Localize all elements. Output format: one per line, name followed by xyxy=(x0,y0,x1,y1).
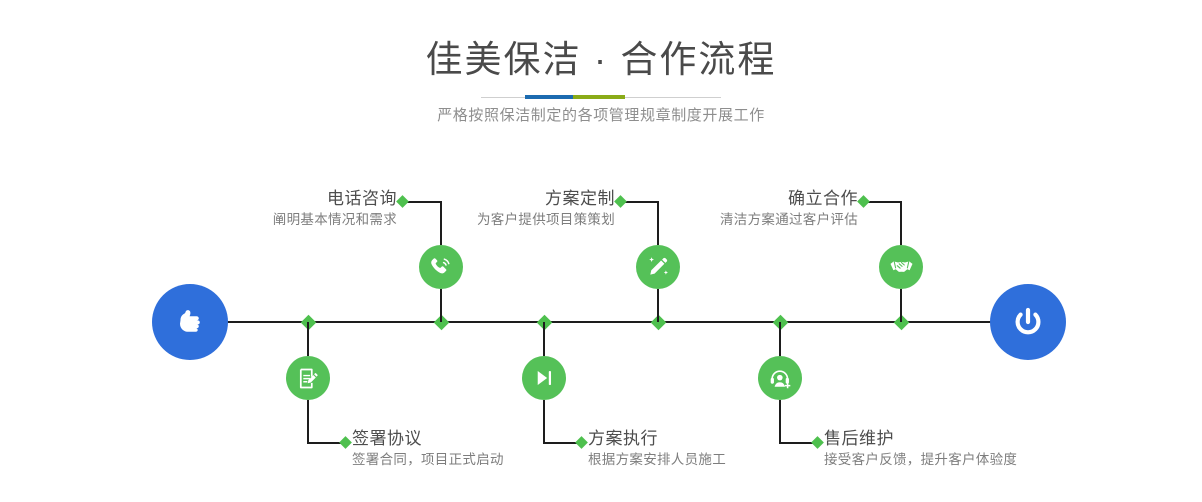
connector-vertical-3b xyxy=(657,289,659,322)
connector-vertical-5 xyxy=(900,202,902,245)
step-desc-3: 为客户提供项目策策划 xyxy=(440,210,615,230)
branch-marker-5 xyxy=(857,195,870,208)
pointing-hand-icon xyxy=(171,303,209,341)
step-title-6: 售后维护 xyxy=(824,428,1017,450)
step-desc-5: 清洁方案通过客户评估 xyxy=(684,210,858,230)
phone-call-icon xyxy=(419,245,463,289)
branch-marker-4 xyxy=(575,436,588,449)
step-label-5: 确立合作 清洁方案通过客户评估 xyxy=(684,188,858,230)
page-subtitle: 严格按照保洁制定的各项管理规章制度开展工作 xyxy=(0,104,1202,125)
step-label-2: 签署协议 签署合同，项目正式启动 xyxy=(352,428,504,470)
step-label-4: 方案执行 根据方案安排人员施工 xyxy=(588,428,726,470)
connector-horizontal-1 xyxy=(404,201,442,203)
connector-vertical-6 xyxy=(779,322,781,356)
connector-horizontal-3 xyxy=(622,201,659,203)
page-title: 佳美保洁 · 合作流程 xyxy=(0,36,1202,84)
divider-segment-blue xyxy=(525,95,573,99)
connector-vertical-1b xyxy=(440,289,442,322)
connector-vertical-4b xyxy=(543,400,545,443)
divider-segment-green xyxy=(573,95,625,99)
step-title-4: 方案执行 xyxy=(588,428,726,450)
branch-marker-6 xyxy=(811,436,824,449)
step-label-3: 方案定制 为客户提供项目策策划 xyxy=(440,188,615,230)
step-title-5: 确立合作 xyxy=(684,188,858,210)
step-label-1: 电话咨询 阐明基本情况和需求 xyxy=(222,188,397,230)
step-title-1: 电话咨询 xyxy=(222,188,397,210)
connector-vertical-4 xyxy=(543,322,545,356)
connector-vertical-6b xyxy=(779,400,781,443)
process-flow-infographic: 佳美保洁 · 合作流程 严格按照保洁制定的各项管理规章制度开展工作 xyxy=(0,0,1202,502)
step-desc-2: 签署合同，项目正式启动 xyxy=(352,450,504,470)
branch-marker-3 xyxy=(614,195,627,208)
play-next-icon xyxy=(522,356,566,400)
title-divider xyxy=(481,95,721,101)
connector-vertical-5b xyxy=(900,289,902,322)
step-desc-4: 根据方案安排人员施工 xyxy=(588,450,726,470)
branch-marker-2 xyxy=(339,436,352,449)
branch-marker-1 xyxy=(396,195,409,208)
step-title-3: 方案定制 xyxy=(440,188,615,210)
contract-edit-icon xyxy=(286,356,330,400)
handshake-icon xyxy=(879,245,923,289)
step-label-6: 售后维护 接受客户反馈，提升客户体验度 xyxy=(824,428,1017,470)
step-title-2: 签署协议 xyxy=(352,428,504,450)
connector-horizontal-5 xyxy=(865,201,902,203)
timeline-start-node xyxy=(152,284,228,360)
connector-vertical-3 xyxy=(657,202,659,245)
step-desc-1: 阐明基本情况和需求 xyxy=(222,210,397,230)
timeline-end-node xyxy=(990,284,1066,360)
connector-vertical-2b xyxy=(307,400,309,443)
connector-vertical-2 xyxy=(307,322,309,356)
pencil-design-icon xyxy=(636,245,680,289)
power-icon xyxy=(1008,302,1048,342)
step-desc-6: 接受客户反馈，提升客户体验度 xyxy=(824,450,1017,470)
customer-support-icon xyxy=(758,356,802,400)
